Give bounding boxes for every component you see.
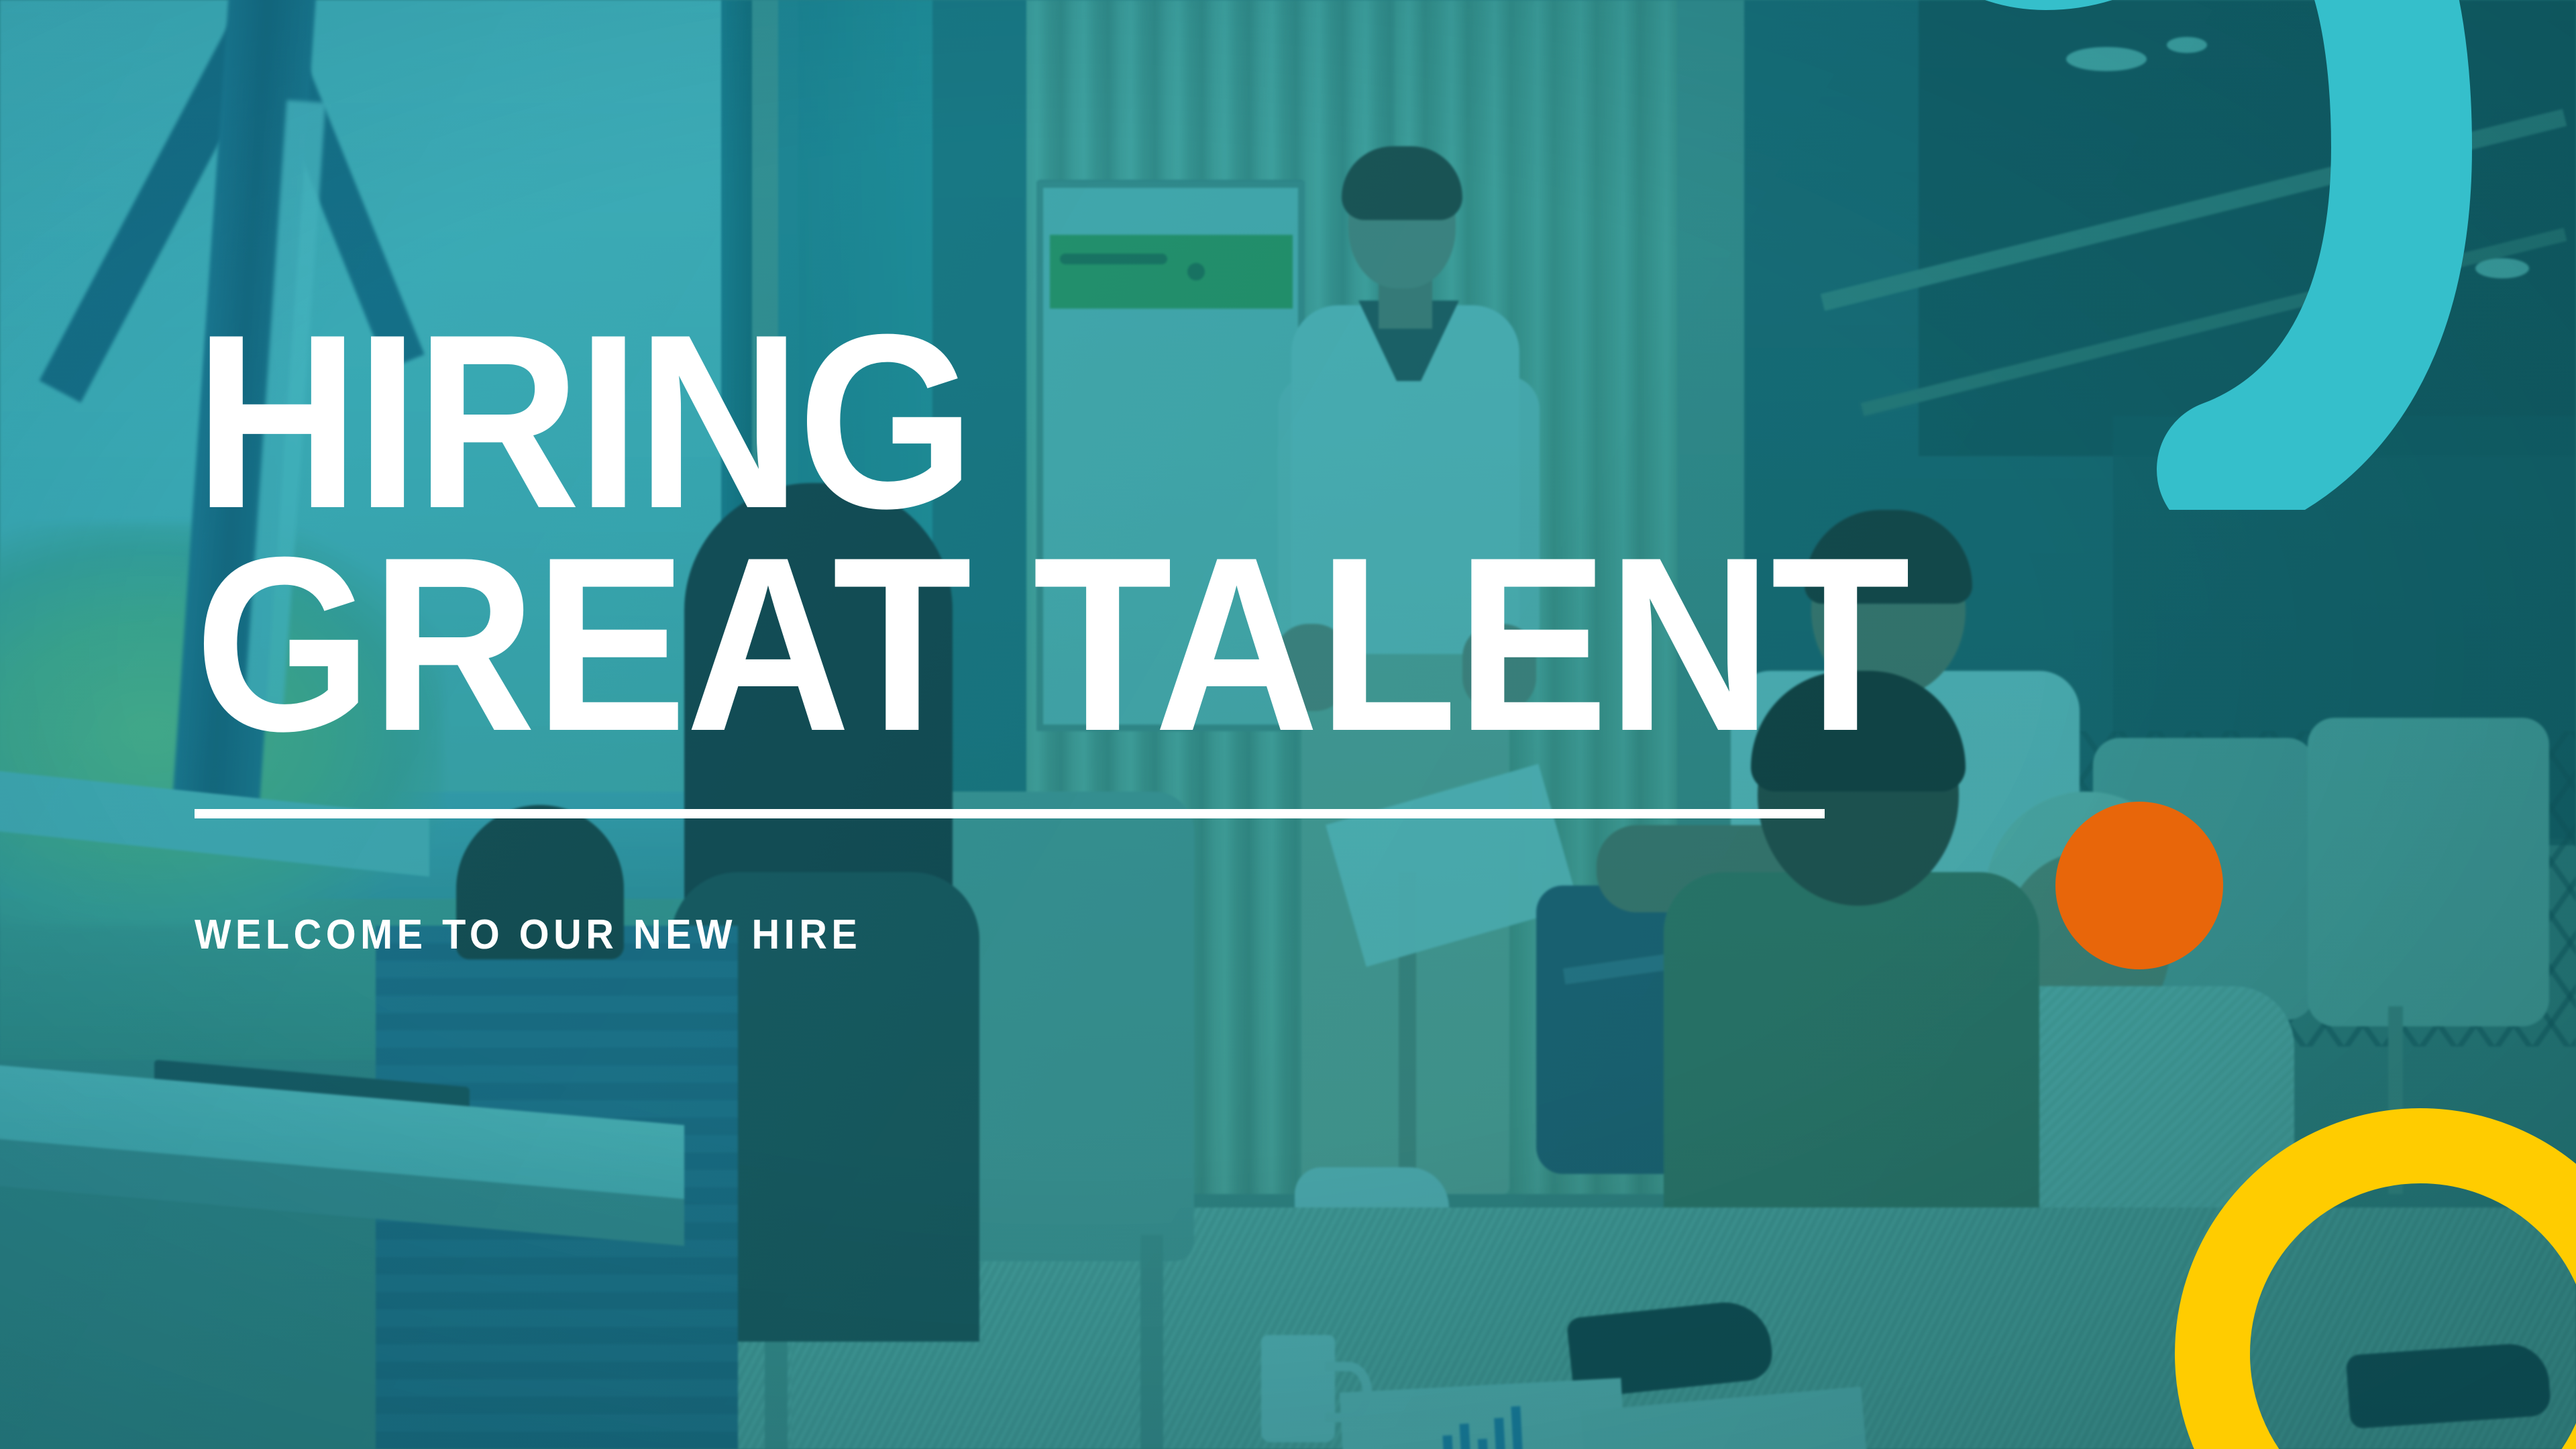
orange-circle-icon — [2055, 802, 2223, 969]
page-title: HIRING GREAT TALENT — [195, 315, 1799, 751]
white-divider-rule — [195, 809, 1825, 818]
hiring-banner: HIRING GREAT TALENT WELCOME TO OUR NEW H… — [0, 0, 2576, 1449]
banner-subtitle: WELCOME TO OUR NEW HIRE — [195, 911, 1817, 959]
banner-copy: HIRING GREAT TALENT WELCOME TO OUR NEW H… — [195, 315, 1939, 959]
title-line-2: GREAT TALENT — [195, 538, 1799, 751]
